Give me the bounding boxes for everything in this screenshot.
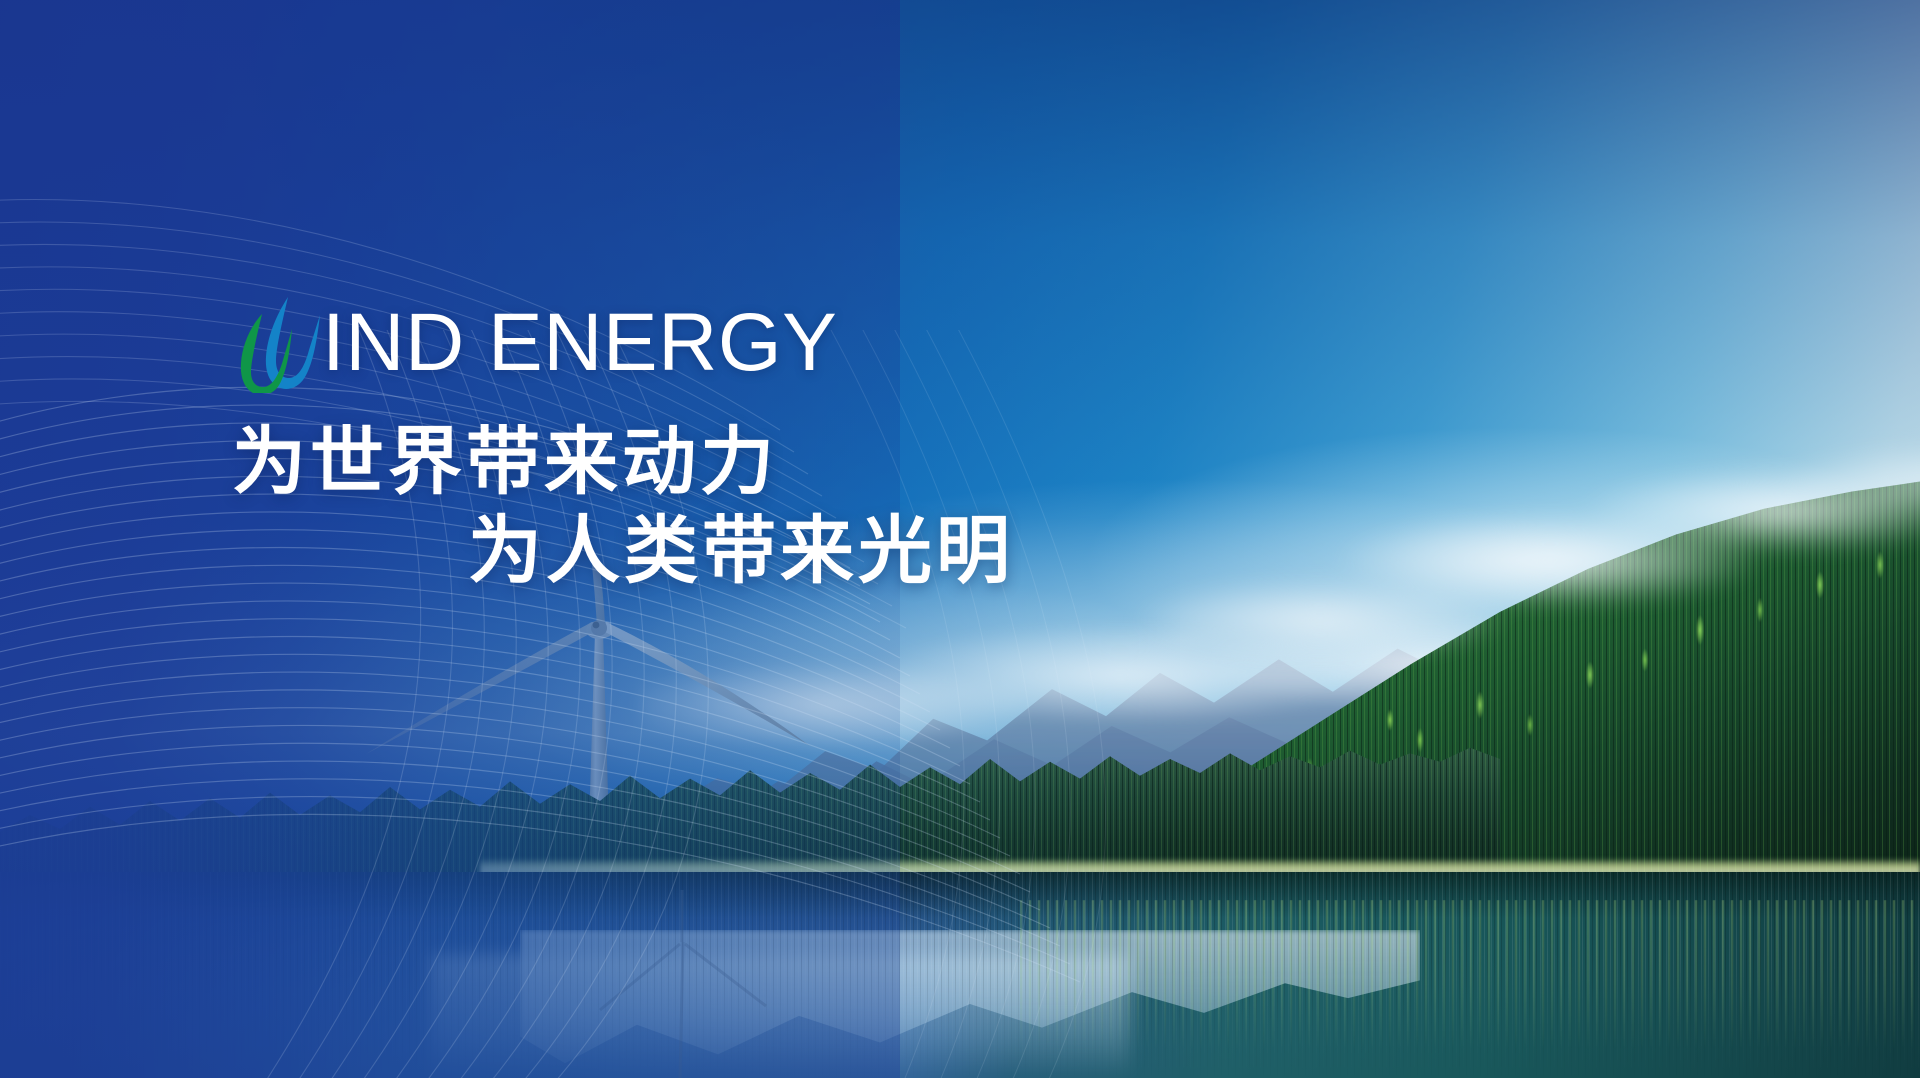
brand-wordmark: IND ENERGY	[322, 302, 837, 384]
wind-swoosh-logo-icon	[232, 293, 328, 393]
slogan-block: 为世界带来动力 为人类带来光明	[232, 418, 1432, 596]
banner-stage: IND ENERGY 为世界带来动力 为人类带来光明	[0, 0, 1920, 1078]
slogan-line-1: 为世界带来动力	[232, 418, 1432, 507]
slogan-line-2: 为人类带来光明	[232, 507, 1432, 596]
banner-content: IND ENERGY 为世界带来动力 为人类带来光明	[232, 292, 1432, 596]
brand-lockup: IND ENERGY	[232, 292, 1432, 394]
